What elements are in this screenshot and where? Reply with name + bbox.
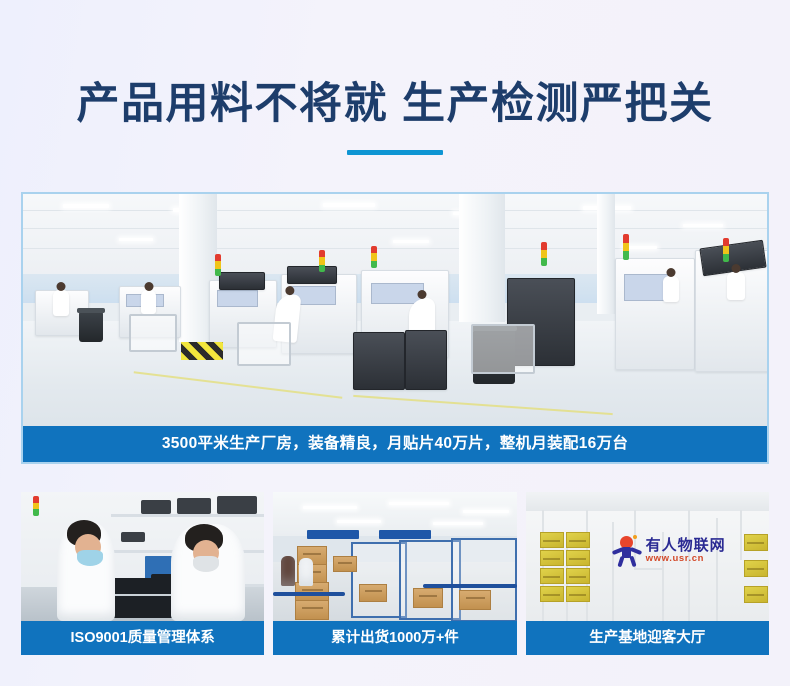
pillar <box>597 194 615 314</box>
machine-panel <box>217 290 259 307</box>
ceiling-grid-line <box>23 210 767 211</box>
aisle-sign <box>379 530 431 539</box>
storage-box <box>217 496 257 514</box>
worker-head <box>667 268 676 277</box>
rack-module <box>353 332 405 390</box>
card-photo-inspection <box>21 492 264 621</box>
card-row: ISO9001质量管理体系 <box>21 492 769 655</box>
carton <box>359 584 387 602</box>
aisle-sign <box>307 530 359 539</box>
award-plaque <box>744 586 768 603</box>
award-plaque <box>566 568 590 584</box>
brand-website: www.usr.cn <box>646 554 726 564</box>
worker-mask <box>77 550 103 566</box>
rack-module <box>405 330 447 390</box>
worker <box>53 290 69 316</box>
award-plaque <box>540 586 564 602</box>
carton <box>333 556 357 572</box>
pillar <box>459 194 505 322</box>
award-plaque <box>566 532 590 548</box>
signal-tower <box>723 238 729 262</box>
worker <box>663 276 679 302</box>
storage-box <box>141 500 171 514</box>
ceiling-light <box>433 522 483 525</box>
hero-caption: 3500平米生产厂房，装备精良，月贴片40万片，整机月装配16万台 <box>23 426 767 462</box>
signal-tower <box>541 242 547 266</box>
ceiling-light <box>393 240 429 243</box>
usr-person-icon <box>612 536 642 566</box>
award-plaque <box>540 568 564 584</box>
wall-seam <box>716 518 718 621</box>
card-caption: 累计出货1000万+件 <box>273 621 516 655</box>
logo-arm-right <box>629 547 641 555</box>
wall-seam <box>634 568 664 570</box>
carton <box>295 600 329 620</box>
ceiling-light <box>337 520 381 523</box>
ceiling-light <box>119 238 153 241</box>
warehouse-worker <box>281 556 295 586</box>
award-plaque <box>540 532 564 548</box>
machine <box>615 258 695 370</box>
trolley <box>129 314 177 352</box>
machine-hood <box>287 266 337 284</box>
signal-tower <box>623 234 629 260</box>
storage-box <box>177 498 211 514</box>
worker <box>141 290 156 314</box>
worker-head <box>732 264 741 273</box>
trolley <box>471 324 535 374</box>
workbench-scene <box>21 492 264 621</box>
warehouse-worker <box>299 558 313 586</box>
ceiling-light <box>63 204 109 208</box>
ceiling <box>526 492 769 511</box>
logo-leg-left <box>617 556 624 568</box>
award-plaque <box>540 550 564 566</box>
machine-hood <box>219 272 265 290</box>
safety-rail <box>423 584 516 588</box>
trolley <box>237 322 291 366</box>
company-logo: 有人物联网 www.usr.cn <box>612 536 726 566</box>
page-title-part2: 生产检测严把关 <box>402 80 714 128</box>
shelf <box>111 514 264 517</box>
hazard-stripe <box>181 342 223 360</box>
award-plaque <box>566 586 590 602</box>
carton <box>459 590 491 610</box>
worker-head <box>144 282 153 291</box>
card-photo-logo-wall: 有人物联网 www.usr.cn <box>526 492 769 621</box>
hero-photo-smt-workshop <box>23 194 767 430</box>
brand-name: 有人物联网 <box>646 538 726 554</box>
wall-seam <box>740 510 742 560</box>
card-caption: ISO9001质量管理体系 <box>21 621 264 655</box>
title-accent-rule <box>347 150 443 155</box>
card-iso9001[interactable]: ISO9001质量管理体系 <box>21 492 264 655</box>
lobby-scene: 有人物联网 www.usr.cn <box>526 492 769 621</box>
logo-text-block: 有人物联网 www.usr.cn <box>646 538 726 564</box>
worker <box>727 272 745 300</box>
trash-bin <box>79 312 103 342</box>
warehouse-scene <box>273 492 516 621</box>
factory-scene <box>23 194 767 430</box>
worker-mask <box>193 556 219 572</box>
carton <box>413 588 443 608</box>
worker-head <box>57 282 66 291</box>
worker-head <box>418 290 427 299</box>
ceiling-light <box>323 203 375 207</box>
page-title: 产品用料不将就生产检测严把关 <box>0 79 790 129</box>
signal-tower <box>371 246 377 268</box>
card-photo-warehouse <box>273 492 516 621</box>
ceiling-grid-line <box>23 228 767 229</box>
award-plaque <box>744 534 768 551</box>
logo-signal-dot <box>633 535 637 539</box>
ceiling-light <box>303 506 357 509</box>
signal-tower <box>319 250 325 272</box>
card-shipments[interactable]: 累计出货1000万+件 <box>273 492 516 655</box>
card-caption: 生产基地迎客大厅 <box>526 621 769 655</box>
worker-left <box>57 522 115 621</box>
card-lobby[interactable]: 有人物联网 www.usr.cn 生产基地迎客大厅 <box>526 492 769 655</box>
logo-leg-right <box>629 556 636 568</box>
storage-box <box>121 532 145 542</box>
ceiling-light <box>389 502 449 505</box>
signal-tower <box>33 496 39 516</box>
worker-head <box>285 286 295 296</box>
award-plaque <box>744 560 768 577</box>
page-title-part1: 产品用料不将就 <box>77 80 389 128</box>
signal-tower <box>215 254 221 276</box>
safety-rail <box>273 592 345 596</box>
promo-page: 产品用料不将就生产检测严把关 <box>0 0 790 686</box>
page-header: 产品用料不将就生产检测严把关 <box>0 0 790 180</box>
worker-right <box>171 524 245 621</box>
hero-image-card: 3500平米生产厂房，装备精良，月贴片40万片，整机月装配16万台 <box>21 192 769 464</box>
ceiling-light <box>463 510 509 513</box>
award-plaque <box>566 550 590 566</box>
ceiling-light <box>683 224 723 227</box>
